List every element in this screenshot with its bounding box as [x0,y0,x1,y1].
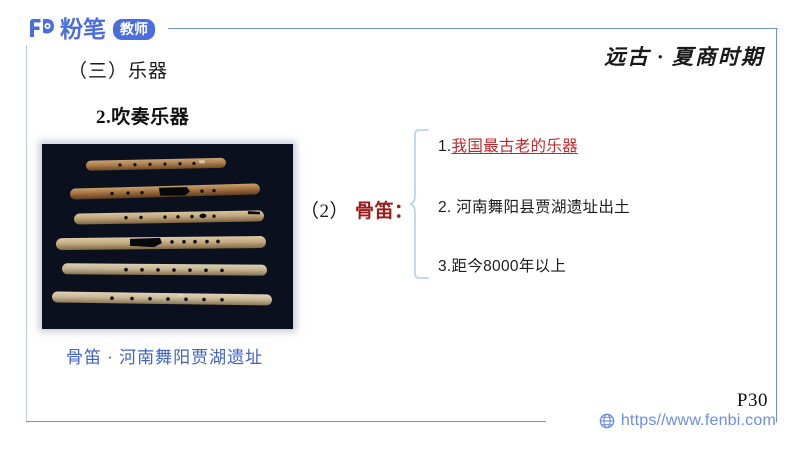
point-index: 1. [438,138,452,155]
item-number: （2） [300,201,349,222]
sub-heading: 2.吹奏乐器 [96,102,189,129]
page-number: P30 [737,390,768,412]
photo-caption: 骨笛 · 河南舞阳贾湖遗址 [66,343,263,368]
point-text: 距今8000年以上 [452,258,567,275]
brand-badge: 教师 [113,19,155,40]
curly-brace-icon [409,128,429,280]
list-item: 3.距今8000年以上 [438,254,566,276]
fenbi-fb-logo-icon [28,17,55,41]
brand-logo: 粉笔 教师 [28,14,155,44]
globe-icon [599,413,615,429]
slide-canvas: 粉笔 教师 远古 · 夏商时期 （三）乐器 2.吹奏乐器 [0,0,800,450]
footer-url[interactable]: https//www.fenbi.com [599,412,776,430]
item-label: （2）骨笛： [300,196,414,223]
header-title: 远古 · 夏商时期 [604,41,764,71]
brand-name: 粉笔 [60,18,106,41]
footer-url-text: https//www.fenbi.com [621,412,776,430]
frame-right-border [776,28,777,422]
point-text: 河南舞阳县贾湖遗址出土 [452,199,630,216]
list-item: 1.我国最古老的乐器 [438,134,578,156]
point-text: 我国最古老的乐器 [452,138,578,155]
list-item: 2. 河南舞阳县贾湖遗址出土 [438,195,630,217]
frame-top-border [168,28,778,29]
point-index: 3. [438,258,452,275]
frame-left-border [26,45,27,421]
frame-bottom-border [26,421,546,422]
point-index: 2. [438,199,452,216]
bone-flutes-photo [42,144,293,329]
item-term: 骨笛： [355,201,414,222]
section-heading: （三）乐器 [68,56,168,83]
